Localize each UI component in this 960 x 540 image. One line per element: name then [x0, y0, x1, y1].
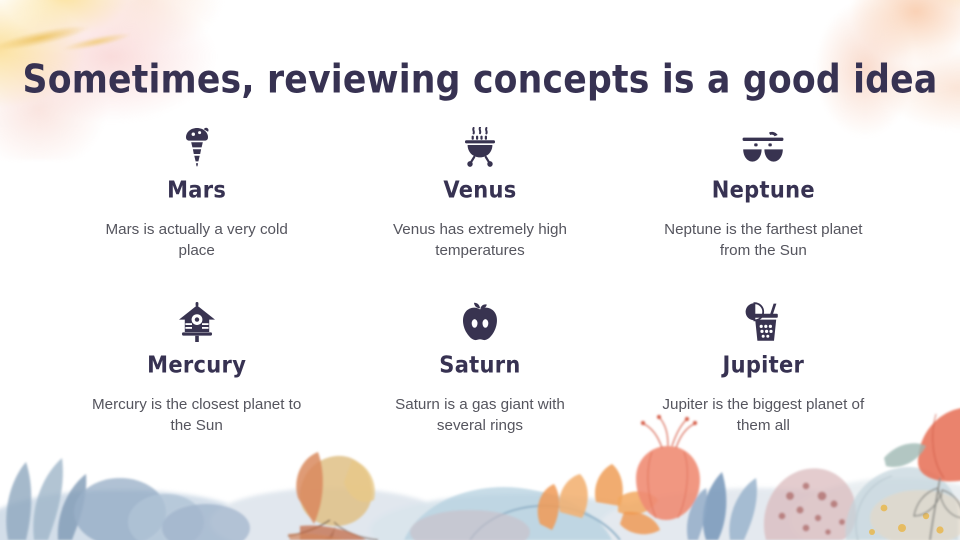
feature-card-neptune: Neptune Neptune is the farthest planet f…	[627, 124, 900, 299]
barbecue-grill-icon	[343, 124, 616, 170]
feature-grid: Mars Mars is actually a very cold place	[60, 124, 900, 474]
birdhouse-icon	[60, 299, 333, 345]
page-title: Sometimes, reviewing concepts is a good …	[5, 58, 955, 103]
feature-card-mars: Mars Mars is actually a very cold place	[60, 124, 333, 299]
feature-description: Mercury is the closest planet to the Sun	[89, 394, 304, 436]
feature-title: Neptune	[627, 177, 900, 203]
sunglasses-icon	[627, 124, 900, 170]
feature-description: Jupiter is the biggest planet of them al…	[656, 394, 871, 436]
feature-description: Neptune is the farthest planet from the …	[656, 219, 871, 261]
feature-description: Saturn is a gas giant with several rings	[372, 394, 587, 436]
feature-title: Venus	[343, 177, 616, 203]
drink-glass-icon	[627, 299, 900, 345]
feature-description: Mars is actually a very cold place	[89, 219, 304, 261]
apple-icon	[343, 299, 616, 345]
feature-title: Mars	[60, 177, 333, 203]
feature-card-jupiter: Jupiter Jupiter is the biggest planet of…	[627, 299, 900, 474]
presentation-slide: Sometimes, reviewing concepts is a good …	[0, 0, 960, 540]
feature-title: Saturn	[343, 352, 616, 378]
feature-title: Mercury	[60, 352, 333, 378]
ice-cream-cone-icon	[60, 124, 333, 170]
feature-description: Venus has extremely high temperatures	[372, 219, 587, 261]
feature-title: Jupiter	[627, 352, 900, 378]
feature-card-saturn: Saturn Saturn is a gas giant with severa…	[343, 299, 616, 474]
feature-card-mercury: Mercury Mercury is the closest planet to…	[60, 299, 333, 474]
feature-card-venus: Venus Venus has extremely high temperatu…	[343, 124, 616, 299]
